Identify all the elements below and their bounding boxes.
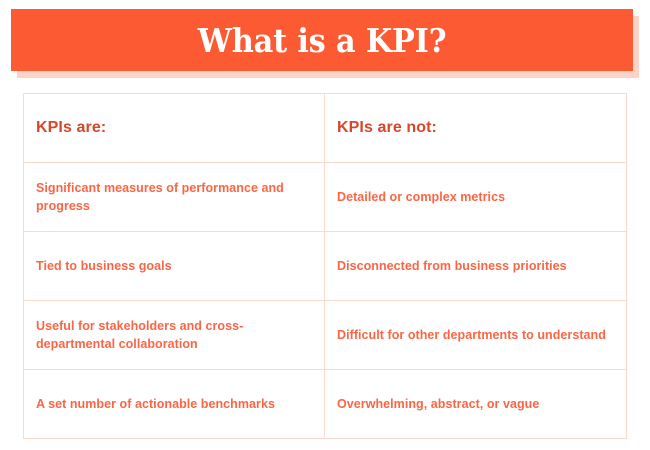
column-header-label: KPIs are not: bbox=[337, 119, 614, 137]
cell-text: Significant measures of performance and … bbox=[36, 179, 312, 215]
cell-kpis-are-not: Difficult for other departments to under… bbox=[325, 301, 627, 370]
table-header-row: KPIs are: KPIs are not: bbox=[24, 94, 627, 163]
cell-text: Overwhelming, abstract, or vague bbox=[337, 395, 614, 413]
column-header-label: KPIs are: bbox=[36, 119, 312, 137]
cell-text: Useful for stakeholders and cross-depart… bbox=[36, 317, 312, 353]
table-row: Tied to business goals Disconnected from… bbox=[24, 232, 627, 301]
table-row: Useful for stakeholders and cross-depart… bbox=[24, 301, 627, 370]
table-row: A set number of actionable benchmarks Ov… bbox=[24, 370, 627, 439]
header-banner: What is a KPI? bbox=[11, 9, 633, 71]
cell-text: Difficult for other departments to under… bbox=[337, 326, 614, 344]
cell-kpis-are: Significant measures of performance and … bbox=[24, 163, 325, 232]
cell-kpis-are: Useful for stakeholders and cross-depart… bbox=[24, 301, 325, 370]
cell-kpis-are-not: Overwhelming, abstract, or vague bbox=[325, 370, 627, 439]
table-row: Significant measures of performance and … bbox=[24, 163, 627, 232]
cell-text: Detailed or complex metrics bbox=[337, 188, 614, 206]
cell-kpis-are-not: Detailed or complex metrics bbox=[325, 163, 627, 232]
cell-text: Disconnected from business priorities bbox=[337, 257, 614, 275]
cell-kpis-are: A set number of actionable benchmarks bbox=[24, 370, 325, 439]
kpi-comparison-table: KPIs are: KPIs are not: Significant meas… bbox=[23, 93, 627, 439]
cell-kpis-are-not: Disconnected from business priorities bbox=[325, 232, 627, 301]
page-title: What is a KPI? bbox=[198, 24, 447, 57]
cell-text: A set number of actionable benchmarks bbox=[36, 395, 312, 413]
cell-text: Tied to business goals bbox=[36, 257, 312, 275]
banner-body: What is a KPI? bbox=[11, 9, 633, 71]
column-header-kpis-are-not: KPIs are not: bbox=[325, 94, 627, 163]
column-header-kpis-are: KPIs are: bbox=[24, 94, 325, 163]
cell-kpis-are: Tied to business goals bbox=[24, 232, 325, 301]
